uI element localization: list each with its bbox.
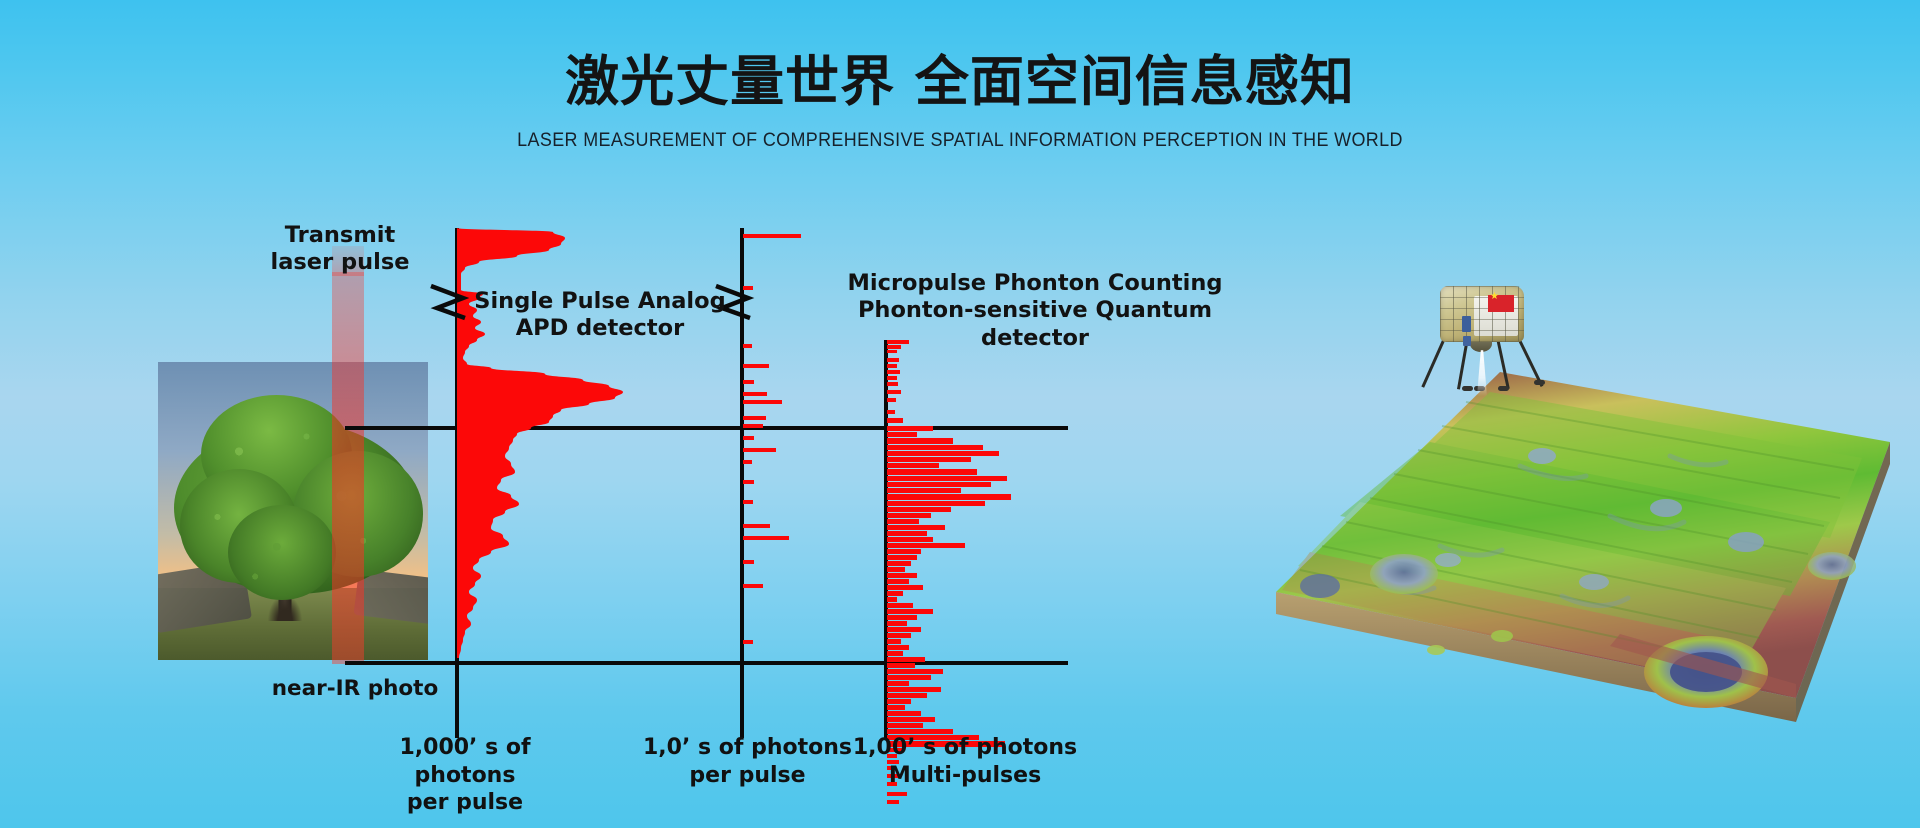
photon-spike	[887, 549, 921, 554]
photon-spike	[887, 513, 931, 518]
photon-spike	[887, 687, 941, 692]
photon-spike	[887, 567, 905, 572]
label-near-ir-photo: near-IR photo	[230, 676, 480, 702]
photon-spike	[743, 480, 754, 484]
photon-spike	[887, 591, 903, 596]
photon-spike	[887, 663, 915, 668]
photo-leaf-texture	[158, 362, 428, 660]
photon-spike	[887, 543, 965, 548]
photon-spike	[887, 382, 898, 386]
photon-spike	[743, 448, 776, 452]
label-micropulse-detector: Micropulse Phonton Counting Phonton-sens…	[820, 270, 1250, 352]
china-flag-icon	[1488, 295, 1514, 312]
photon-spike	[743, 234, 801, 238]
photon-spike	[887, 358, 899, 362]
photon-spike	[887, 717, 935, 722]
photon-spike	[743, 424, 763, 428]
photon-spike	[887, 376, 897, 380]
photon-spike	[743, 344, 752, 348]
photon-spike	[887, 639, 901, 644]
photon-spike	[887, 537, 933, 542]
lander-footpad	[1498, 386, 1509, 391]
photon-spike	[743, 560, 754, 564]
photon-spike	[887, 476, 1007, 481]
photon-spike	[887, 615, 917, 620]
photon-spike	[887, 609, 933, 614]
photon-spike	[887, 555, 917, 560]
banner-stage: 激光丈量世界 全面空间信息感知 LASER MEASUREMENT OF COM…	[0, 0, 1920, 828]
photon-spike	[887, 426, 933, 431]
photon-spike	[887, 370, 900, 374]
photon-spike	[887, 501, 985, 506]
lunar-lander-icon	[1422, 280, 1542, 390]
photon-spike	[887, 451, 999, 456]
photon-spike	[887, 573, 917, 578]
lander-body	[1440, 286, 1524, 342]
photon-spike	[887, 585, 923, 590]
photon-spike	[887, 705, 905, 710]
lander-engine-plume	[1477, 350, 1487, 396]
photon-spike	[887, 432, 917, 437]
photon-spike	[743, 524, 770, 528]
dem-terrain-scene	[1190, 280, 1910, 770]
photon-spike	[743, 364, 769, 368]
photon-spike	[743, 416, 766, 420]
photon-spike	[887, 457, 971, 462]
photon-spike	[887, 675, 931, 680]
dem-terrain-icon	[1190, 346, 1910, 766]
photon-spike	[887, 579, 909, 584]
photon-spike	[887, 723, 923, 728]
photon-spike	[887, 645, 909, 650]
photon-spike	[887, 621, 907, 626]
photon-spike	[887, 507, 951, 512]
photon-spike	[887, 445, 983, 450]
photon-spike	[887, 488, 961, 493]
photon-spike	[743, 400, 782, 404]
photon-spike	[887, 482, 991, 487]
photon-spike	[887, 657, 925, 662]
photon-spike	[743, 584, 763, 588]
photon-spike	[887, 693, 927, 698]
photon-spike	[887, 627, 921, 632]
photon-spike	[887, 699, 911, 704]
photon-spike	[887, 633, 911, 638]
photon-spike	[887, 531, 927, 536]
photon-spike	[887, 597, 897, 602]
plot-dense-multipulse-counting	[884, 340, 1084, 738]
photon-spike	[743, 380, 754, 384]
photon-spike	[887, 603, 913, 608]
photon-spike	[887, 398, 896, 402]
photon-spike	[887, 469, 977, 475]
label-apd-detector: Single Pulse Analog APD detector	[470, 288, 730, 343]
photon-spike	[887, 792, 907, 796]
photon-spike	[887, 800, 899, 804]
lander-leg	[1421, 335, 1447, 387]
photon-spike	[887, 519, 919, 524]
lander-instrument	[1462, 316, 1471, 332]
photon-spike	[887, 711, 921, 716]
photon-spike	[743, 640, 753, 644]
photon-spike	[743, 500, 753, 504]
label-transmit-laser-pulse: Transmit laser pulse	[245, 222, 435, 277]
lander-leg	[1496, 338, 1510, 389]
lander-footpad	[1534, 380, 1545, 385]
caption-plot1: 1,000’ s of photons per pulse	[350, 734, 580, 817]
photon-spike	[887, 438, 953, 444]
photon-spike	[887, 669, 943, 674]
lander-instrument	[1463, 336, 1471, 346]
photon-spike	[887, 525, 945, 530]
photon-spike	[743, 460, 752, 464]
caption-plot3: 1,00’ s of photons Multi-pulses	[850, 734, 1080, 789]
photon-spike	[887, 390, 901, 394]
photon-spike	[887, 681, 909, 686]
photon-spike	[743, 436, 754, 440]
photon-spike	[743, 392, 767, 396]
photon-spike	[887, 418, 903, 423]
photon-spike	[887, 463, 939, 468]
caption-plot2: 1,0’ s of photons per pulse	[640, 734, 855, 789]
photon-spike	[887, 494, 1011, 500]
photon-spike	[887, 651, 903, 656]
photon-spike	[887, 364, 897, 368]
photon-spike	[887, 561, 911, 566]
laser-beam-icon	[332, 272, 364, 664]
lander-footpad	[1462, 386, 1473, 391]
near-ir-tree-photo	[158, 362, 428, 660]
photon-spike	[887, 410, 895, 414]
photon-spike	[743, 536, 789, 540]
